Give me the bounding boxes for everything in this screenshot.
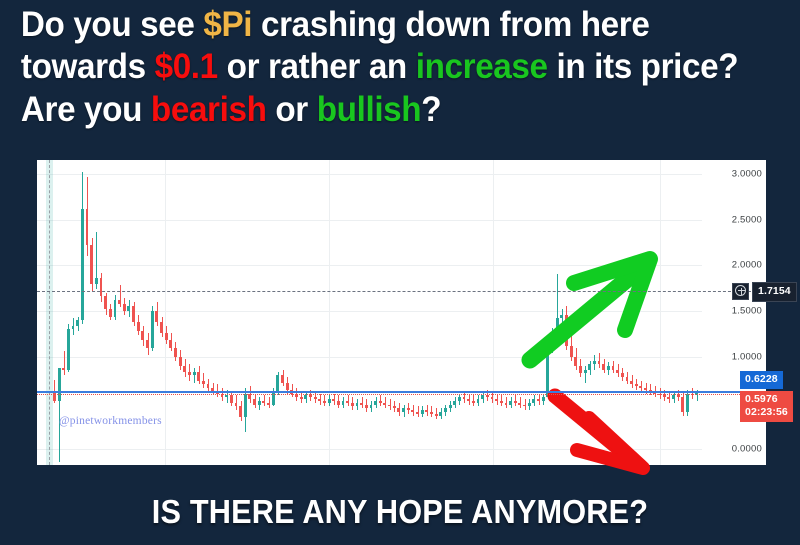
last-price-line (37, 391, 766, 393)
candle-body (393, 406, 396, 408)
candle-body (286, 383, 289, 390)
candle-body (481, 395, 484, 399)
candle-body (370, 405, 373, 409)
candle-body (104, 296, 107, 309)
candle-body (439, 412, 442, 416)
candle-body (95, 278, 98, 283)
candle-body (491, 397, 494, 399)
candle-body (663, 395, 666, 397)
candle-body (630, 381, 633, 385)
candle-body (253, 399, 256, 404)
candle-body (169, 340, 172, 347)
candle-body (318, 399, 321, 401)
candle-body (155, 311, 158, 322)
candle-body (127, 306, 130, 311)
candle-body (616, 370, 619, 374)
candle-body (667, 397, 670, 399)
watermark-label: @pinetworkmembers (59, 415, 162, 427)
candle-body (607, 366, 610, 370)
candle-body (62, 368, 65, 370)
candle-body (453, 401, 456, 405)
headline-segment-10: ? (421, 90, 441, 129)
headline-segment-1: $Pi (203, 5, 252, 44)
candle-body (118, 300, 121, 304)
candle-body (467, 399, 470, 401)
candle-body (449, 405, 452, 409)
candle-body (523, 405, 526, 407)
price-chart[interactable]: 3.00002.50002.00001.50001.00000.0000 @pi… (37, 160, 766, 465)
candle-body (463, 397, 466, 399)
candle-body (360, 403, 363, 405)
candle-body (416, 412, 419, 414)
candle-body (114, 300, 117, 316)
candle-body (528, 403, 531, 407)
candle-body (137, 322, 140, 331)
candle-body (560, 315, 563, 319)
candle-body (90, 245, 93, 283)
candle-body (225, 395, 228, 397)
candle-body (151, 311, 154, 348)
axis-tick-label: 2.0000 (732, 260, 762, 271)
candle-body (579, 366, 582, 373)
candle-body (532, 399, 535, 403)
candle-body (430, 412, 433, 414)
candle-body (304, 395, 307, 399)
candle-body (612, 366, 615, 370)
headline-segment-0: Do you see (21, 5, 203, 44)
candle-body (197, 372, 200, 381)
candle-body (202, 381, 205, 385)
axis-tick-label: 3.0000 (732, 168, 762, 179)
candle-body (565, 315, 568, 346)
candle-body (383, 403, 386, 405)
candle-body (593, 361, 596, 365)
candle-body (397, 408, 400, 412)
candle-body (472, 401, 475, 403)
candle-body (337, 401, 340, 405)
caption-text: IS THERE ANY HOPE ANYMORE? (28, 493, 772, 531)
candle-body (67, 329, 70, 369)
candle-body (500, 401, 503, 403)
candle-body (132, 306, 135, 322)
countdown-badge[interactable]: 0.597602:23:56 (740, 391, 793, 422)
candle-body (677, 395, 680, 397)
candle-body (602, 364, 605, 369)
candle-body (235, 403, 238, 407)
candle-body (146, 340, 149, 347)
candle-body (388, 405, 391, 407)
candle-body (165, 333, 168, 340)
candle-body (300, 397, 303, 399)
candle-body (639, 386, 642, 388)
candle-body (681, 397, 684, 412)
candle-wick (585, 366, 586, 382)
candle-body (444, 408, 447, 412)
candle-body (188, 372, 191, 376)
headline-segment-5: increase (416, 47, 548, 86)
candle-body (621, 373, 624, 377)
candle-body (314, 397, 317, 399)
candle-body (542, 397, 545, 401)
candle-body (72, 326, 75, 330)
candle-body (518, 403, 521, 405)
add-alert-button[interactable] (732, 283, 749, 300)
headline-segment-7: bearish (151, 90, 267, 129)
candle-body (276, 375, 279, 391)
headline-segment-8: or (267, 90, 317, 129)
candle-body (323, 401, 326, 403)
candle-body (374, 401, 377, 405)
candle-body (570, 346, 573, 357)
candle-body (267, 403, 270, 405)
countdown-price-line (37, 394, 766, 395)
headline-segment-3: $0.1 (155, 47, 218, 86)
candle-body (505, 403, 508, 405)
candle-body (262, 401, 265, 403)
candle-body (160, 322, 163, 333)
candle-wick (64, 351, 65, 375)
candle-body (356, 403, 359, 407)
candle-body (141, 331, 144, 340)
axis-tick-label: 0.0000 (732, 443, 762, 454)
candle-body (309, 395, 312, 397)
candle-body (551, 335, 554, 342)
meme-canvas: Do you see $Pi crashing down from here t… (0, 0, 800, 545)
candle-body (421, 410, 424, 414)
candle-body (230, 395, 233, 402)
candle-body (402, 408, 405, 412)
candle-body (332, 399, 335, 401)
candle-body (644, 388, 647, 390)
candle-body (100, 278, 103, 296)
candle-body (574, 357, 577, 366)
candle-body (588, 364, 591, 369)
candle-body (239, 406, 242, 417)
candle-body (626, 377, 629, 381)
candle-wick (562, 309, 563, 329)
candle-body (281, 375, 284, 382)
candle-body (458, 397, 461, 401)
candle-body (556, 318, 559, 334)
candle-body (365, 405, 368, 409)
axis-tick-label: 1.5000 (732, 306, 762, 317)
candle-body (328, 399, 331, 403)
candle-body (193, 372, 196, 376)
candle-body (425, 410, 428, 412)
last-price-badge[interactable]: 0.6228 (740, 371, 783, 388)
candle-body (411, 410, 414, 412)
candle-body (509, 401, 512, 405)
candle-body (514, 401, 517, 403)
candle-body (407, 408, 410, 410)
candle-body (81, 209, 84, 321)
candle-body (109, 309, 112, 316)
candle-body (183, 366, 186, 371)
candle-body (346, 401, 349, 403)
candle-body (537, 399, 540, 401)
candle-body (179, 357, 182, 366)
candle-wick (194, 368, 195, 383)
candle-body (435, 414, 438, 416)
candle-body (174, 348, 177, 357)
candle-body (495, 399, 498, 401)
candle-body (379, 401, 382, 403)
headline-segment-9: bullish (317, 90, 421, 129)
candle-body (635, 384, 638, 386)
candle-body (258, 401, 261, 405)
axis-tick-label: 2.5000 (732, 214, 762, 225)
candle-body (546, 342, 549, 397)
candle-body (76, 320, 79, 325)
candle-body (244, 394, 247, 418)
candle-body (351, 403, 354, 407)
countdown-timer: 02:23:56 (745, 406, 788, 419)
axis-tick-label: 1.0000 (732, 351, 762, 362)
candle-body (123, 304, 126, 311)
candle-body (598, 361, 601, 365)
candle-body (207, 384, 210, 388)
candle-wick (120, 285, 121, 307)
candle-body (584, 370, 587, 374)
candle-body (486, 395, 489, 397)
candle-body (686, 394, 689, 412)
candle-body (672, 395, 675, 399)
target-price-line (37, 291, 766, 292)
target-price-badge[interactable]: 1.7154 (752, 282, 797, 301)
candle-body (477, 399, 480, 403)
candle-body (58, 368, 61, 401)
candle-body (86, 209, 89, 246)
session-divider-line (49, 160, 50, 465)
candle-body (342, 401, 345, 405)
headline-text: Do you see $Pi crashing down from here t… (0, 4, 760, 131)
countdown-price-value: 0.5976 (745, 393, 788, 406)
headline-segment-4: or rather an (218, 47, 416, 86)
